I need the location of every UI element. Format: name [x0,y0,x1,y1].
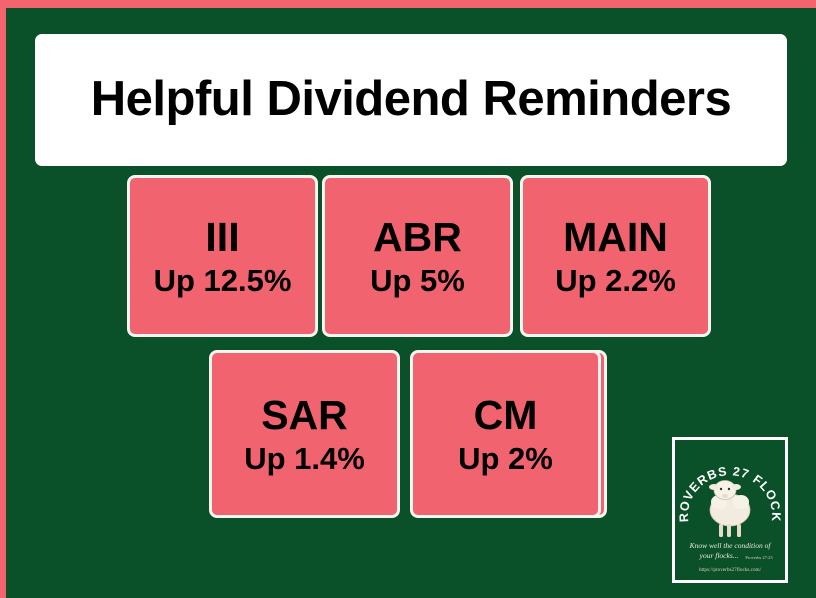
ticker-card-abr[interactable]: ABR Up 5% [322,175,513,337]
logo-verse-line2: your flocks... [699,551,739,560]
title-plaque: Helpful Dividend Reminders [35,34,787,166]
ticker-card-sar[interactable]: SAR Up 1.4% [209,350,400,518]
ticker-symbol: SAR [261,395,348,436]
ticker-symbol: CM [474,395,538,436]
logo-artwork: PROVERBS 27 FLOCKS Know well the condit [675,440,785,580]
ticker-change: Up 12.5% [154,265,292,296]
page-title: Helpful Dividend Reminders [91,74,731,125]
sheep-icon: PROVERBS 27 FLOCKS Know well the condit [675,440,785,580]
ticker-symbol: MAIN [563,217,668,258]
ticker-card-cm[interactable]: CM Up 2% [410,350,601,518]
ticker-symbol: III [205,217,239,258]
brand-logo: PROVERBS 27 FLOCKS Know well the condit [672,437,788,583]
logo-verse-ref: Proverbs 27:23 [745,555,773,560]
ticker-change: Up 5% [370,265,465,296]
top-accent-strip [0,0,816,8]
logo-verse-line1: Know well the condition of [689,541,772,550]
logo-website: https://proverbs27flocks.com/ [699,566,762,573]
ticker-change: Up 2% [458,443,553,474]
ticker-card-main[interactable]: MAIN Up 2.2% [520,175,711,337]
ticker-symbol: ABR [373,217,462,258]
left-accent-strip [0,0,6,598]
ticker-card-iii[interactable]: III Up 12.5% [127,175,318,337]
ticker-change: Up 1.4% [244,443,365,474]
slide-canvas: Helpful Dividend Reminders III Up 12.5% … [0,0,816,598]
ticker-change: Up 2.2% [555,265,676,296]
